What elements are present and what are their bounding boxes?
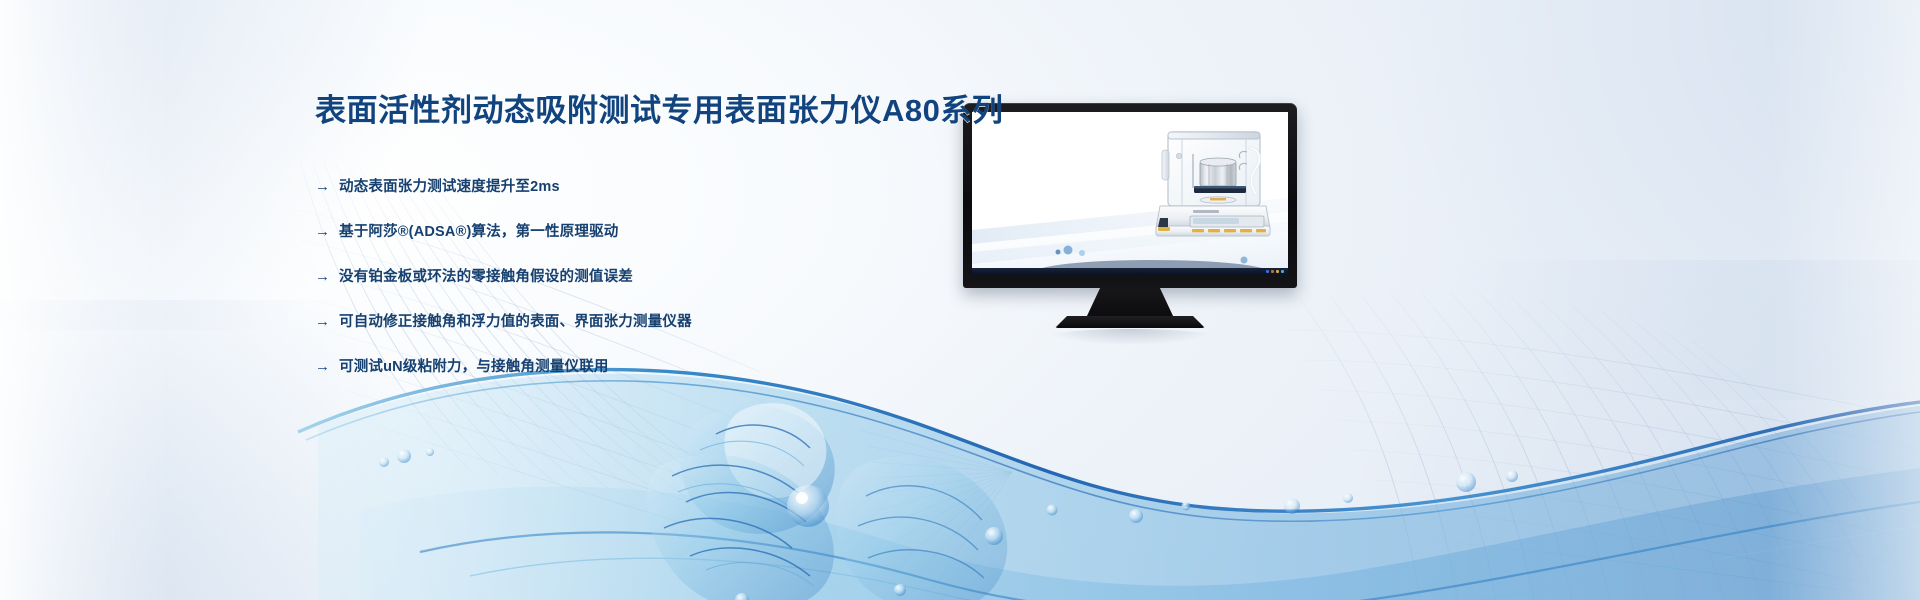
taskbar-dot <box>1276 270 1279 273</box>
list-item: → 基于阿莎®(ADSA®)算法，第一性原理驱动 <box>315 222 955 242</box>
product-banner: 表面活性剂动态吸附测试专用表面张力仪A80系列 → 动态表面张力测试速度提升至2… <box>0 0 1920 600</box>
feature-text: 可测试uN级粘附力，与接触角测量仪联用 <box>339 357 609 377</box>
arrow-icon: → <box>315 312 330 332</box>
taskbar-dot <box>1271 270 1274 273</box>
taskbar-dot <box>1266 270 1269 273</box>
monitor-neck <box>1086 288 1174 318</box>
monitor-reflection <box>1046 329 1214 345</box>
surface-tension-analyzer-icon <box>1146 128 1274 246</box>
feature-text: 动态表面张力测试速度提升至2ms <box>339 177 560 197</box>
water-splash-wave <box>0 270 1920 600</box>
banner-text-block: 表面活性剂动态吸附测试专用表面张力仪A80系列 → 动态表面张力测试速度提升至2… <box>315 92 955 377</box>
feature-text: 没有铂金板或环法的零接触角假设的测值误差 <box>339 267 633 287</box>
feature-text: 基于阿莎®(ADSA®)算法，第一性原理驱动 <box>339 222 619 242</box>
monitor-screen <box>972 112 1288 275</box>
monitor-bezel <box>963 103 1297 288</box>
arrow-icon: → <box>315 222 330 242</box>
product-monitor <box>963 103 1297 325</box>
arrow-icon: → <box>315 357 330 377</box>
list-item: → 可自动修正接触角和浮力值的表面、界面张力测量仪器 <box>315 312 955 332</box>
feature-list: → 动态表面张力测试速度提升至2ms → 基于阿莎®(ADSA®)算法，第一性原… <box>315 177 955 377</box>
page-title: 表面活性剂动态吸附测试专用表面张力仪A80系列 <box>315 92 955 131</box>
list-item: → 没有铂金板或环法的零接触角假设的测值误差 <box>315 267 955 287</box>
screen-taskbar <box>972 268 1288 275</box>
arrow-icon: → <box>315 267 330 287</box>
right-edge-fade <box>1770 0 1920 600</box>
left-edge-fade <box>0 0 170 600</box>
list-item: → 动态表面张力测试速度提升至2ms <box>315 177 955 197</box>
feature-text: 可自动修正接触角和浮力值的表面、界面张力测量仪器 <box>339 312 692 332</box>
monitor-base <box>1055 316 1205 328</box>
arrow-icon: → <box>315 177 330 197</box>
taskbar-dot <box>1281 270 1284 273</box>
list-item: → 可测试uN级粘附力，与接触角测量仪联用 <box>315 357 955 377</box>
